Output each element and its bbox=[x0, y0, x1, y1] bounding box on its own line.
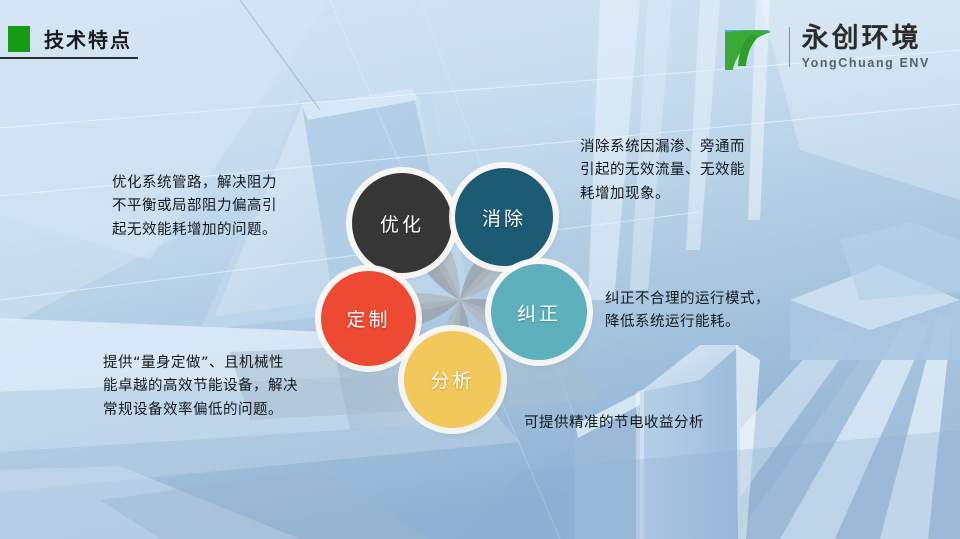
page-title-row: 技术特点 bbox=[0, 24, 132, 53]
node-customize-label: 定制 bbox=[346, 305, 390, 332]
logo-chinese-name: 永创环境 bbox=[802, 25, 930, 52]
caption-customize: 提供“量身定做”、且机械性 能卓越的高效节能设备，解决 常规设备效率偏低的问题。 bbox=[103, 352, 358, 422]
node-eliminate-label: 消除 bbox=[482, 204, 526, 231]
node-optimize[interactable]: 优化 bbox=[352, 173, 452, 273]
leaf-logo-icon bbox=[721, 22, 777, 72]
caption-eliminate: 消除系统因漏渗、旁通而 引起的无效流量、无效能 耗增加现象。 bbox=[580, 136, 810, 206]
node-analyze-label: 分析 bbox=[430, 366, 474, 393]
title-marker-square bbox=[8, 26, 30, 52]
page-title: 技术特点 bbox=[44, 24, 132, 53]
node-analyze[interactable]: 分析 bbox=[404, 331, 501, 428]
title-underline bbox=[0, 57, 138, 59]
node-eliminate[interactable]: 消除 bbox=[455, 168, 553, 266]
logo-wordmark: 永创环境 YongChuang ENV bbox=[802, 25, 930, 70]
node-correct-label: 纠正 bbox=[517, 299, 561, 326]
company-logo: 永创环境 YongChuang ENV bbox=[721, 22, 930, 72]
caption-optimize: 优化系统管路，解决阻力 不平衡或局部阻力偏高引 起无效能耗增加的问题。 bbox=[112, 172, 362, 242]
logo-english-name: YongChuang ENV bbox=[802, 57, 930, 70]
logo-divider bbox=[789, 27, 790, 67]
slide-canvas: 技术特点 永创环境 YongChuang ENV bbox=[0, 0, 960, 539]
caption-correct: 纠正不合理的运行模式， 降低系统运行能耗。 bbox=[605, 288, 830, 335]
node-correct[interactable]: 纠正 bbox=[491, 264, 587, 360]
node-optimize-label: 优化 bbox=[380, 210, 424, 237]
caption-analyze: 可提供精准的节电收益分析 bbox=[524, 412, 804, 435]
